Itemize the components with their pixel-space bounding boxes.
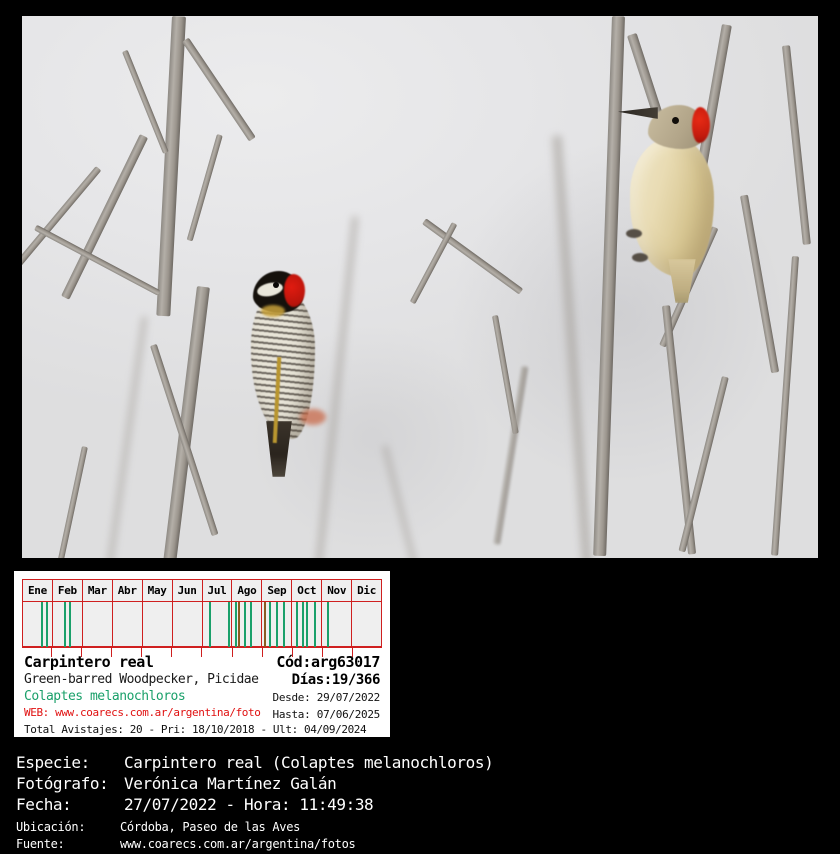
- meta-row-ubicacion: Ubicación: Córdoba, Paseo de las Aves: [16, 819, 816, 836]
- sighting-tick: [269, 602, 271, 647]
- month-cell-ene: [23, 602, 53, 647]
- month-cell-dic: [352, 602, 381, 647]
- card-code: Cód:arg63017: [276, 653, 380, 671]
- sighting-tick: [283, 602, 285, 647]
- card-range-to: Hasta: 07/06/2025: [273, 708, 380, 721]
- card-english-name: Green-barred Woodpecker, Picidae: [24, 672, 258, 687]
- meta-label-fuente: Fuente:: [16, 836, 120, 853]
- bird1-eye: [273, 282, 279, 288]
- meta-value-fecha: 27/07/2022 - Hora: 11:49:38: [124, 794, 373, 815]
- month-label-mar: Mar: [83, 580, 113, 601]
- species-summary-card: Ene Feb Mar Abr May Jun Jul Ago Sep Oct …: [14, 571, 390, 737]
- bird1-nape: [261, 305, 285, 317]
- month-label-sep: Sep: [262, 580, 292, 601]
- month-label-jul: Jul: [203, 580, 233, 601]
- meta-value-ubicacion: Córdoba, Paseo de las Aves: [120, 819, 300, 836]
- month-cell-oct: [292, 602, 322, 647]
- card-total-sightings: Total Avistajes: 20 - Pri: 18/10/2018 - …: [24, 723, 366, 736]
- month-cell-jun: [173, 602, 203, 647]
- calendar-month-header: Ene Feb Mar Abr May Jun Jul Ago Sep Oct …: [23, 580, 381, 602]
- card-days: Días:19/366: [292, 672, 380, 688]
- month-label-jun: Jun: [173, 580, 203, 601]
- bird2-beak: [618, 107, 658, 119]
- meta-row-fecha: Fecha: 27/07/2022 - Hora: 11:49:38: [16, 794, 816, 815]
- bird2-foot-lower: [632, 253, 648, 262]
- bird2-eye: [672, 117, 679, 124]
- sighting-tick: [276, 602, 278, 647]
- meta-value-fuente[interactable]: www.coarecs.com.ar/argentina/fotos: [120, 836, 355, 853]
- month-cell-feb: [53, 602, 83, 647]
- meta-row-fotografo: Fotógrafo: Verónica Martínez Galán: [16, 773, 816, 794]
- month-label-abr: Abr: [113, 580, 143, 601]
- meta-label-fecha: Fecha:: [16, 794, 124, 815]
- meta-label-ubicacion: Ubicación:: [16, 819, 120, 836]
- month-label-feb: Feb: [53, 580, 83, 601]
- card-scientific-name: Colaptes melanochloros: [24, 689, 185, 704]
- bird-photo: [22, 16, 818, 558]
- sighting-tick: [64, 602, 66, 647]
- bird2-foot-upper: [626, 229, 642, 238]
- month-cell-jul: [203, 602, 233, 647]
- bird2-red-crown: [692, 107, 710, 143]
- card-web-link[interactable]: WEB: www.coarecs.com.ar/argentina/foto: [24, 706, 260, 719]
- meta-row-especie: Especie: Carpintero real (Colaptes melan…: [16, 752, 816, 773]
- meta-label-especie: Especie:: [16, 752, 124, 773]
- axis-tick-7: [202, 648, 232, 657]
- sighting-tick: [228, 602, 230, 647]
- meta-label-fotografo: Fotógrafo:: [16, 773, 124, 794]
- bird1-wingtip: [300, 409, 326, 425]
- sighting-tick: [244, 602, 246, 647]
- month-cell-abr: [113, 602, 143, 647]
- sighting-tick: [264, 602, 266, 647]
- month-cell-sep: [262, 602, 292, 647]
- sighting-tick: [41, 602, 43, 647]
- meta-value-especie: Carpintero real (Colaptes melanochloros): [124, 752, 493, 773]
- monthly-sightings-chart: Ene Feb Mar Abr May Jun Jul Ago Sep Oct …: [22, 579, 382, 647]
- woodpecker-lower-left: [237, 261, 332, 476]
- month-cell-may: [143, 602, 173, 647]
- sighting-tick: [209, 602, 211, 647]
- card-common-name: Carpintero real: [24, 653, 153, 671]
- sighting-tick: [250, 602, 252, 647]
- month-label-dic: Dic: [352, 580, 381, 601]
- sighting-tick: [46, 602, 48, 647]
- month-cell-nov: [322, 602, 352, 647]
- month-label-nov: Nov: [322, 580, 352, 601]
- sighting-tick: [238, 602, 240, 647]
- sighting-tick: [296, 602, 298, 647]
- month-cell-mar: [83, 602, 113, 647]
- month-label-ago: Ago: [232, 580, 262, 601]
- card-range-from: Desde: 29/07/2022: [273, 691, 380, 704]
- month-cell-ago: [232, 602, 262, 647]
- month-label-may: May: [143, 580, 173, 601]
- sighting-tick: [314, 602, 316, 647]
- photo-metadata: Especie: Carpintero real (Colaptes melan…: [16, 752, 816, 853]
- sighting-tick: [69, 602, 71, 647]
- calendar-tick-band: [23, 602, 381, 647]
- month-label-ene: Ene: [23, 580, 53, 601]
- meta-row-fuente: Fuente: www.coarecs.com.ar/argentina/fot…: [16, 836, 816, 853]
- month-label-oct: Oct: [292, 580, 322, 601]
- woodpecker-upper-right: [622, 101, 742, 291]
- sighting-tick: [235, 602, 237, 647]
- sighting-tick: [327, 602, 329, 647]
- sighting-tick: [306, 602, 308, 647]
- meta-value-fotografo: Verónica Martínez Galán: [124, 773, 336, 794]
- bird1-tail: [263, 421, 295, 477]
- axis-tick-6: [172, 648, 202, 657]
- axis-tick-8: [233, 648, 263, 657]
- sighting-tick: [302, 602, 304, 647]
